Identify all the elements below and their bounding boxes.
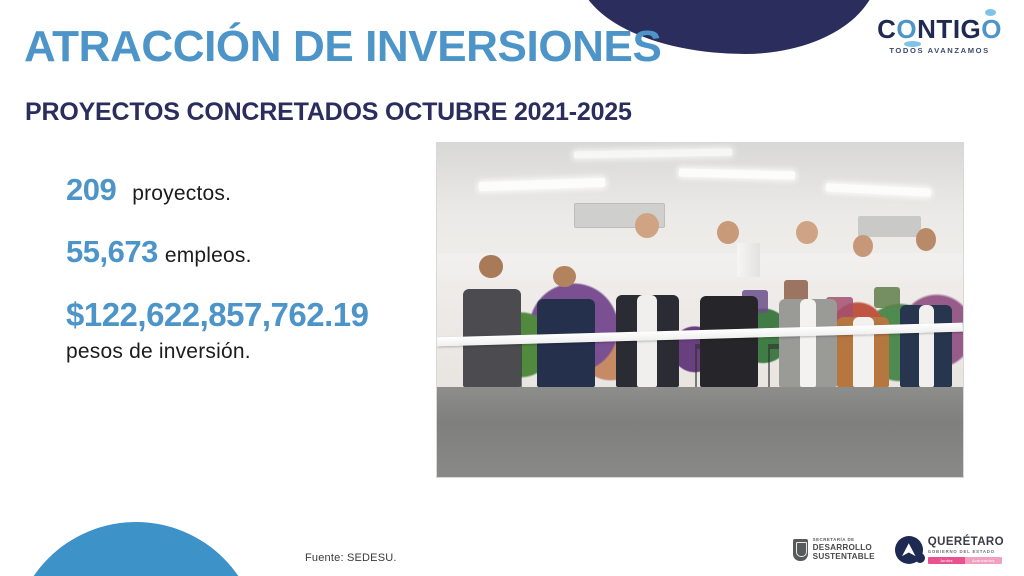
- sedesu-text: SECRETARÍA DE DESARROLLO SUSTENTABLE: [813, 538, 875, 561]
- sedesu-logo: SECRETARÍA DE DESARROLLO SUSTENTABLE: [793, 538, 875, 561]
- stat-projects-value: 209: [66, 172, 116, 208]
- photo-person-head: [553, 266, 576, 288]
- queretaro-text: QUERÉTARO GOBIERNO DEL ESTADO Juntos Ava…: [928, 536, 1004, 563]
- blue-decorative-circle: [12, 522, 260, 576]
- slide-atraccion-de-inversiones: ATRACCIÓN DE INVERSIONES PROYECTOS CONCR…: [0, 0, 1024, 576]
- queretaro-slogan-right: Avanzamos: [965, 557, 1002, 564]
- queretaro-slogan-bar: Juntos Avanzamos: [928, 557, 1002, 564]
- photo-person-head: [916, 228, 936, 250]
- photo-person-head: [853, 235, 873, 258]
- photo-floor: [437, 387, 963, 477]
- contigo-letter-c: C: [877, 14, 896, 44]
- stat-investment-value: $122,622,857,762.19: [66, 296, 368, 334]
- stat-investment-label: pesos de inversión.: [66, 340, 426, 364]
- ribbon-cutting-photo: [437, 143, 963, 477]
- contigo-dot-accent: [985, 9, 996, 16]
- queretaro-logo: QUERÉTARO GOBIERNO DEL ESTADO Juntos Ava…: [895, 536, 1004, 564]
- footer-logos: SECRETARÍA DE DESARROLLO SUSTENTABLE QUE…: [793, 536, 1004, 564]
- coat-of-arms-icon: [793, 539, 808, 561]
- photo-person-head: [717, 221, 739, 245]
- queretaro-name: QUERÉTARO: [928, 536, 1004, 549]
- contigo-logo: CONTIGO TODOS AVANZAMOS: [877, 16, 1002, 55]
- photo-person: [837, 253, 890, 387]
- page-title: ATRACCIÓN DE INVERSIONES: [24, 24, 661, 70]
- photo-person-head: [635, 213, 659, 238]
- queretaro-mark-icon: [895, 536, 923, 564]
- stat-projects: 209 proyectos.: [66, 172, 426, 208]
- sedesu-line-2: DESARROLLO: [813, 543, 875, 552]
- contigo-letter-o-final: O: [981, 14, 1002, 44]
- source-note: Fuente: SEDESU.: [305, 552, 397, 564]
- page-subtitle: PROYECTOS CONCRETADOS OCTUBRE 2021-2025: [25, 98, 632, 127]
- photo-person: [616, 233, 679, 387]
- stat-jobs: 55,673 empleos.: [66, 234, 426, 270]
- statistics-group: 209 proyectos. 55,673 empleos. $122,622,…: [66, 172, 426, 364]
- photo-person: [900, 247, 953, 387]
- contigo-letters-ntig: NTIG: [917, 14, 981, 44]
- contigo-tagline: TODOS AVANZAMOS: [877, 47, 1002, 55]
- photo-person-shirt: [637, 295, 657, 387]
- photo-person-head: [479, 255, 502, 278]
- stat-projects-label: proyectos.: [132, 182, 231, 206]
- photo-person: [700, 240, 758, 387]
- photo-person-shirt: [919, 305, 934, 386]
- stat-investment: $122,622,857,762.19: [66, 296, 426, 334]
- stat-jobs-label: empleos.: [165, 244, 252, 268]
- sedesu-line-3: SUSTENTABLE: [813, 552, 875, 561]
- photo-person-shirt: [800, 299, 816, 387]
- contigo-wordmark: CONTIGO: [877, 16, 1002, 42]
- photo-person-head: [796, 221, 818, 245]
- stat-jobs-value: 55,673: [66, 234, 158, 270]
- photo-air-duct: [858, 216, 921, 236]
- photo-person: [463, 273, 521, 387]
- contigo-swoosh-accent: [904, 41, 921, 47]
- photo-person-body: [700, 296, 758, 387]
- queretaro-subtitle: GOBIERNO DEL ESTADO: [928, 550, 1004, 555]
- photo-person: [779, 240, 837, 387]
- queretaro-slogan-left: Juntos: [928, 557, 965, 564]
- contigo-letter-o-blue: O: [896, 14, 917, 44]
